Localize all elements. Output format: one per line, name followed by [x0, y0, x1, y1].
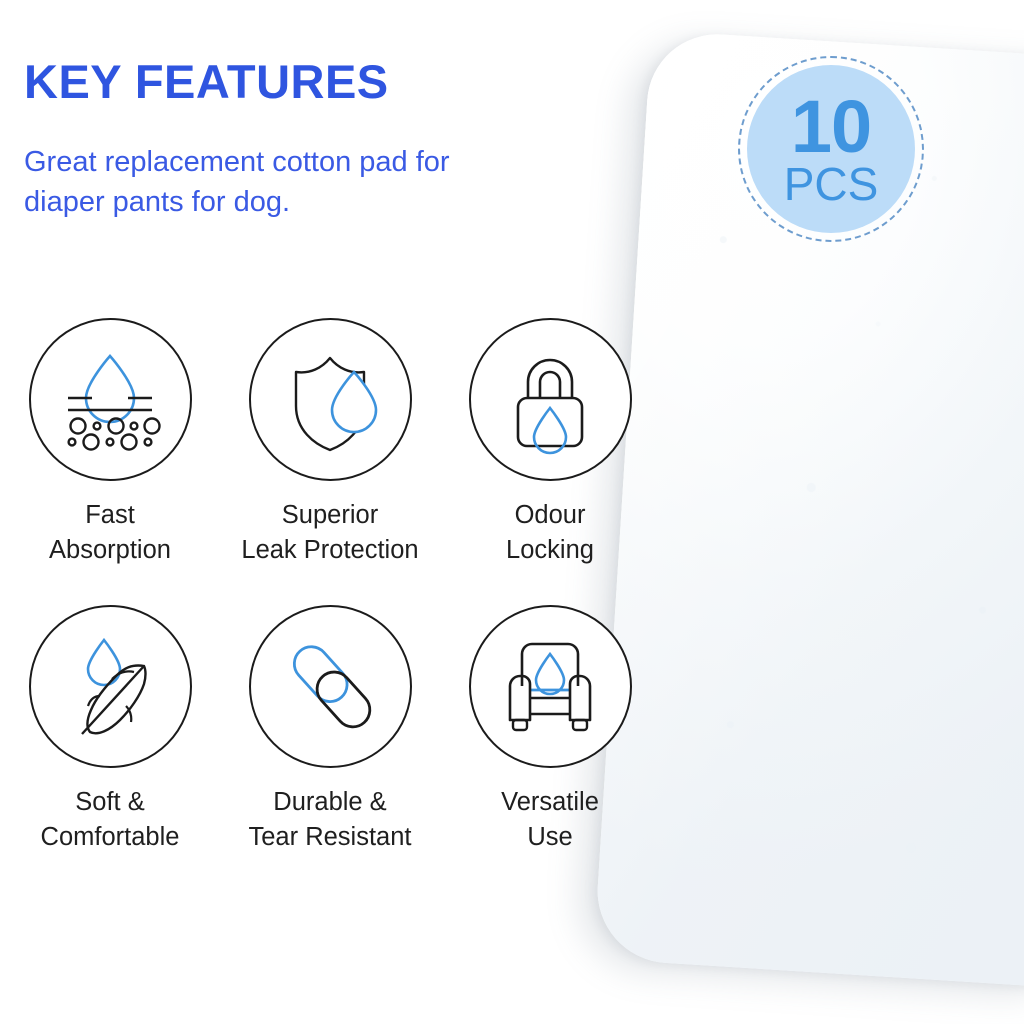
feature-caption-line2: Leak Protection: [241, 533, 418, 568]
feature-caption-line2: Absorption: [49, 533, 171, 568]
feature-grid: Fast Absorption Superior Leak Protection: [0, 318, 660, 855]
feature-item-durable-tear-resistant: Durable & Tear Resistant: [220, 605, 440, 855]
feature-item-fast-absorption: Fast Absorption: [0, 318, 220, 568]
feature-caption: Fast Absorption: [49, 498, 171, 568]
feature-row-1: Fast Absorption Superior Leak Protection: [0, 318, 660, 568]
chain-link-icon: [249, 605, 412, 768]
feature-caption: Durable & Tear Resistant: [249, 785, 412, 855]
feature-row-2: Soft & Comfortable Durable & Tear: [0, 605, 660, 855]
feather-droplet-icon: [29, 605, 192, 768]
armchair-droplet-icon: [469, 605, 632, 768]
feature-caption-line1: Soft &: [41, 785, 180, 820]
absorption-droplet-icon: [29, 318, 192, 481]
page-title: KEY FEATURES: [24, 54, 389, 109]
page-subtitle: Great replacement cotton pad for diaper …: [24, 142, 524, 222]
infographic-canvas: 10 PCS KEY FEATURES Great replacement co…: [0, 0, 1024, 1024]
feature-caption-line1: Durable &: [249, 785, 412, 820]
feature-caption: Superior Leak Protection: [241, 498, 418, 568]
feature-item-versatile-use: Versatile Use: [440, 605, 660, 855]
badge-unit: PCS: [784, 163, 879, 205]
feature-caption-line1: Versatile: [501, 785, 599, 820]
quantity-badge: 10 PCS: [738, 56, 924, 242]
feature-item-soft-comfortable: Soft & Comfortable: [0, 605, 220, 855]
feature-caption-line1: Odour: [506, 498, 594, 533]
feature-caption: Versatile Use: [501, 785, 599, 855]
feature-caption: Odour Locking: [506, 498, 594, 568]
shield-droplet-icon: [249, 318, 412, 481]
feature-caption-line2: Locking: [506, 533, 594, 568]
feature-item-leak-protection: Superior Leak Protection: [220, 318, 440, 568]
lock-droplet-icon: [469, 318, 632, 481]
feature-caption: Soft & Comfortable: [41, 785, 180, 855]
badge-count: 10: [791, 93, 871, 161]
feature-caption-line2: Comfortable: [41, 820, 180, 855]
badge-text-group: 10 PCS: [738, 56, 924, 242]
feature-caption-line1: Superior: [241, 498, 418, 533]
feature-item-odour-locking: Odour Locking: [440, 318, 660, 568]
feature-caption-line2: Use: [501, 820, 599, 855]
feature-caption-line2: Tear Resistant: [249, 820, 412, 855]
feature-caption-line1: Fast: [49, 498, 171, 533]
